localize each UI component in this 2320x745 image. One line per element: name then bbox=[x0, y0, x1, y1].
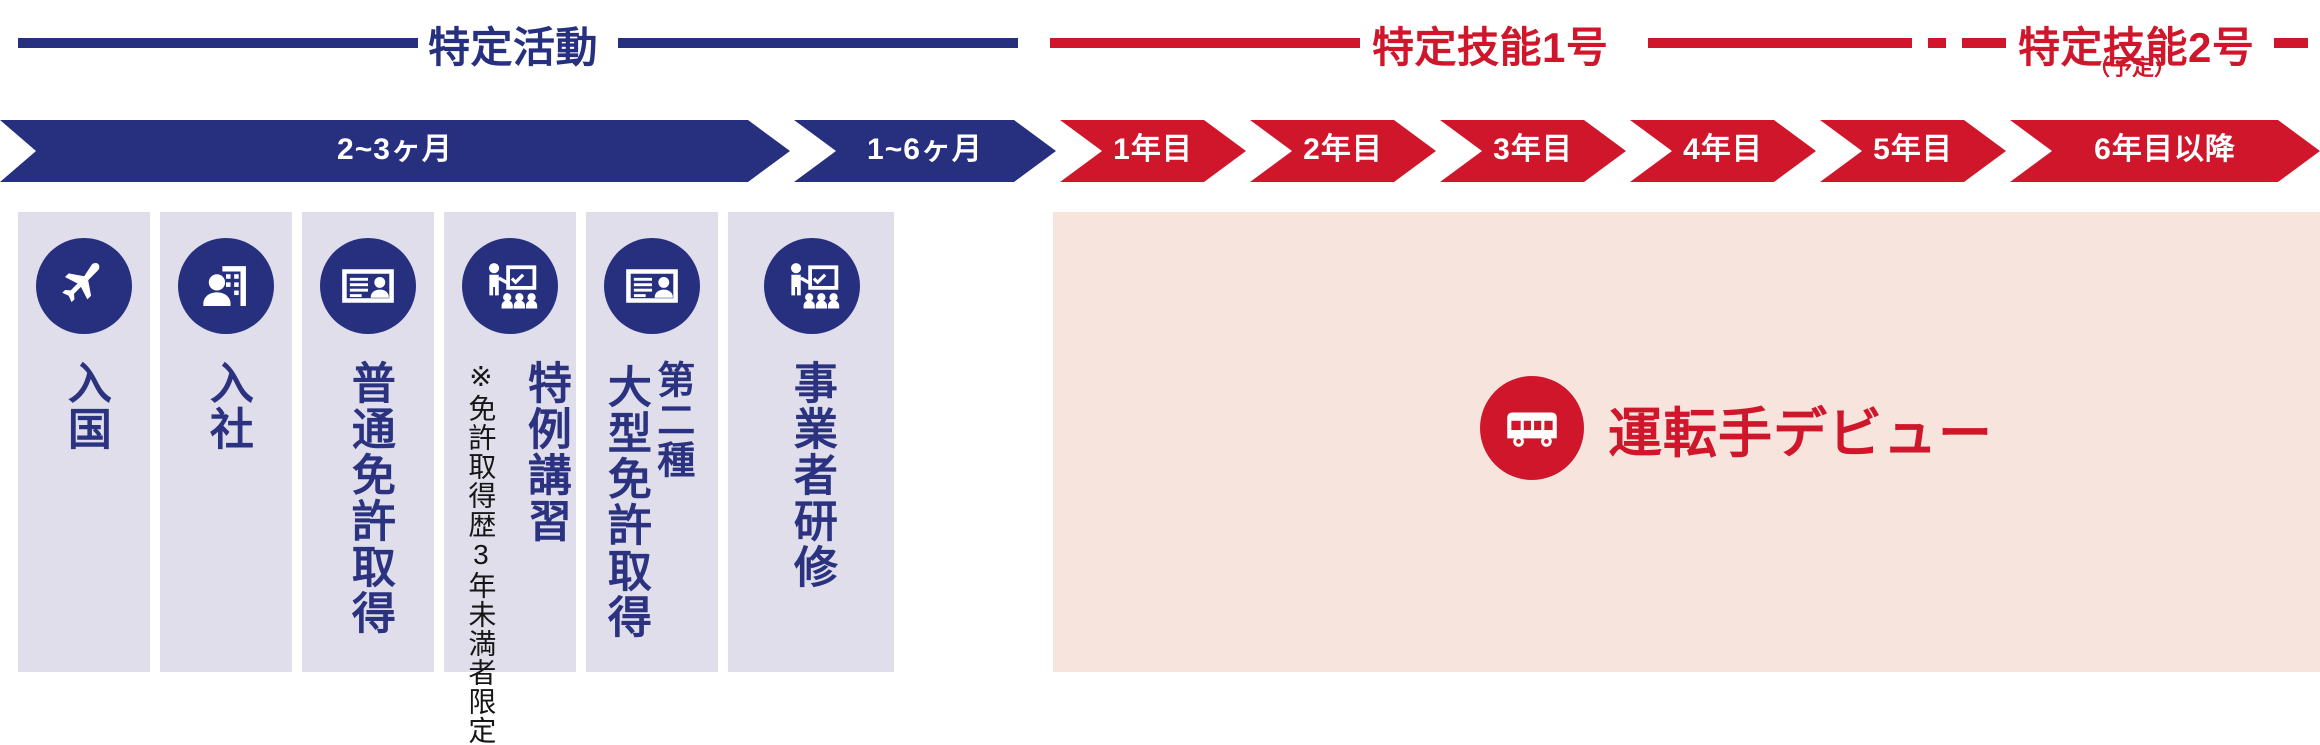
license-card-icon bbox=[604, 238, 700, 334]
stage-card-futsu-menkyo[interactable]: 普通免許取得 bbox=[302, 212, 434, 672]
stage-label-ogata-menkyo: 大型免許取得 bbox=[602, 364, 647, 640]
stage-cards: 入国 入社 bbox=[0, 0, 2320, 699]
stage-label-nyusha: 入社 bbox=[204, 360, 249, 452]
classroom-icon bbox=[462, 238, 558, 334]
driver-debut-group[interactable]: 運転手デビュー bbox=[1480, 376, 1993, 480]
building-person-icon bbox=[178, 238, 274, 334]
stage-card-jigyosha-kenshu[interactable]: 事業者研修 bbox=[728, 212, 894, 672]
classroom-icon bbox=[764, 238, 860, 334]
bus-icon bbox=[1480, 376, 1584, 480]
driver-debut-label: 運転手デビュー bbox=[1608, 389, 1993, 468]
stage-card-nyusha[interactable]: 入社 bbox=[160, 212, 292, 672]
stage-card-tokurei-koushu[interactable]: 特例講習 ※免許取得歴3年未満者限定 bbox=[444, 212, 576, 672]
stage-card-nyukoku[interactable]: 入国 bbox=[18, 212, 150, 672]
airplane-icon bbox=[36, 238, 132, 334]
stage-note-tokurei-koushu: ※免許取得歴3年未満者限定 bbox=[466, 360, 495, 745]
stage-label-dai-ni-shu: 第二種 bbox=[652, 360, 691, 480]
stage-card-ogata-menkyo[interactable]: 大型免許取得 第二種 bbox=[586, 212, 718, 672]
license-card-icon bbox=[320, 238, 416, 334]
stage-label-tokurei-koushu: 特例講習 bbox=[522, 360, 567, 544]
stage-label-nyukoku: 入国 bbox=[62, 360, 107, 452]
timeline-diagram: 特定活動 特定技能1号 特定技能2号 （予定） 2~3ヶ月 1~6ヶ月 1年目 … bbox=[0, 0, 2320, 699]
stage-label-jigyosha-kenshu: 事業者研修 bbox=[788, 360, 833, 590]
stage-label-futsu-menkyo: 普通免許取得 bbox=[346, 360, 391, 636]
